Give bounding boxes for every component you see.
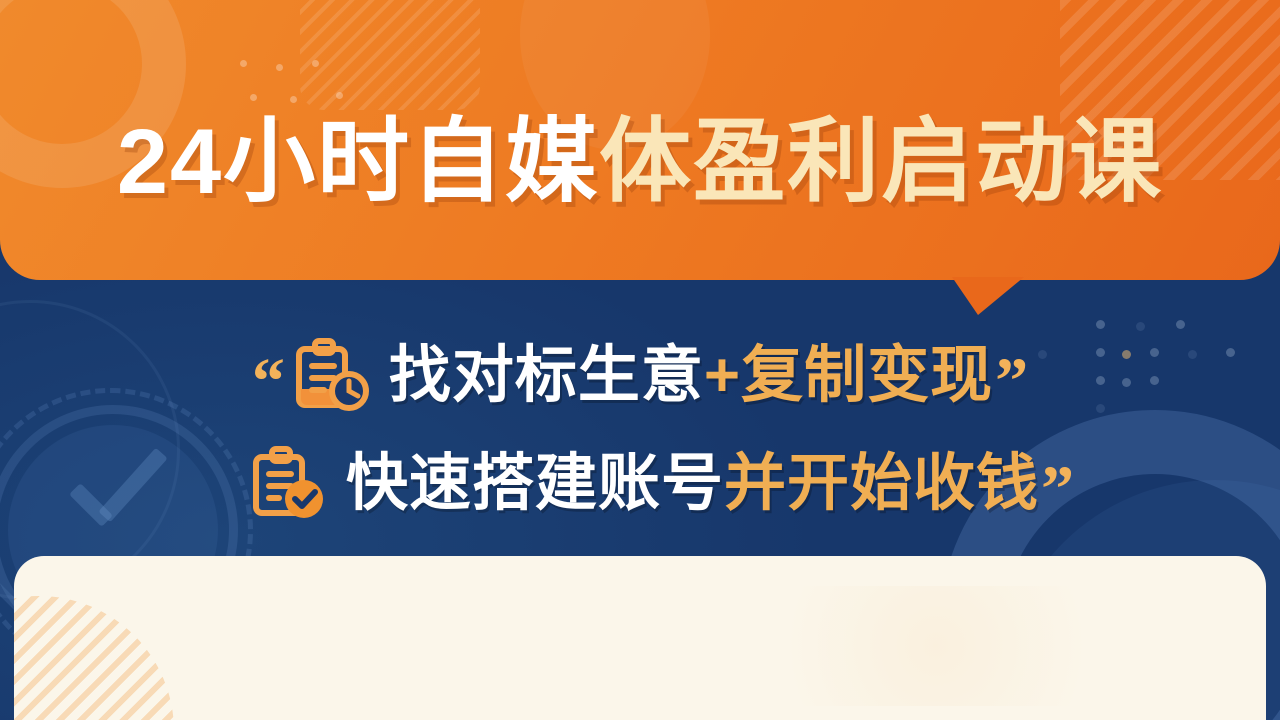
line-1-text-white: 找对标生意 <box>389 345 704 407</box>
page-title: 24小时自媒体盈利启动课 <box>0 116 1280 208</box>
title-part-cream: 体盈利启动课 <box>599 111 1163 213</box>
bottom-content-card <box>14 556 1266 720</box>
quote-close-2: ” <box>1041 457 1074 523</box>
card-striped-circle-decoration <box>14 596 174 720</box>
promo-poster: 24小时自媒体盈利启动课 “ 找对标生意+复制变现 ” <box>0 0 1280 720</box>
clipboard-check-icon <box>248 445 332 523</box>
quote-open-1: “ <box>252 349 285 415</box>
highlight-line-2: 快速搭建账号并开始收钱 ” <box>0 430 1280 538</box>
title-part-white: 24小时自媒 <box>117 111 599 213</box>
highlight-line-1: “ 找对标生意+复制变现 ” <box>0 322 1280 430</box>
highlight-lines: “ 找对标生意+复制变现 ” <box>0 322 1280 538</box>
quote-close-1: ” <box>995 349 1028 415</box>
orange-dot-decoration <box>240 60 370 110</box>
card-faint-glow <box>726 586 1146 706</box>
speech-bubble-tail <box>952 277 1024 315</box>
clipboard-clock-icon <box>291 337 375 415</box>
line-2-text-gold: 并开始收钱 <box>724 453 1039 515</box>
line-1-text-gold: +复制变现 <box>704 345 993 407</box>
line-2-text-white: 快速搭建账号 <box>346 453 724 515</box>
